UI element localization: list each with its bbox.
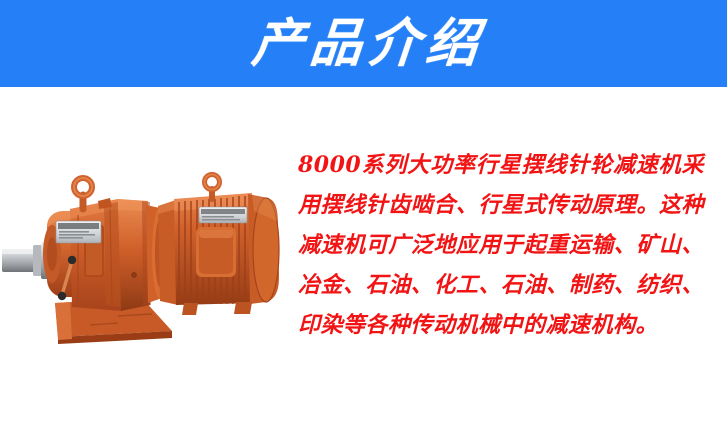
gearbox-housing xyxy=(70,199,122,311)
product-description-text: 8000系列大功率行星摆线针轮减速机采用摆线针齿啮合、行星式传动原理。这种减速机… xyxy=(298,145,704,345)
motor-rear-cap xyxy=(248,194,279,304)
page-banner: 产品介绍 xyxy=(0,0,727,87)
terminal-box xyxy=(196,227,236,277)
product-image xyxy=(0,165,292,365)
gearbox-nameplate xyxy=(56,221,101,243)
page-title: 产品介绍 xyxy=(240,18,487,70)
content-area: 8000系列大功率行星摆线针轮减速机采用摆线针齿啮合、行星式传动原理。这种减速机… xyxy=(0,87,727,427)
motor-nameplate xyxy=(199,207,247,223)
product-introduction-page: 产品介绍 xyxy=(0,0,727,427)
product-description: 8000系列大功率行星摆线针轮减速机采用摆线针齿啮合、行星式传动原理。这种减速机… xyxy=(298,145,704,345)
